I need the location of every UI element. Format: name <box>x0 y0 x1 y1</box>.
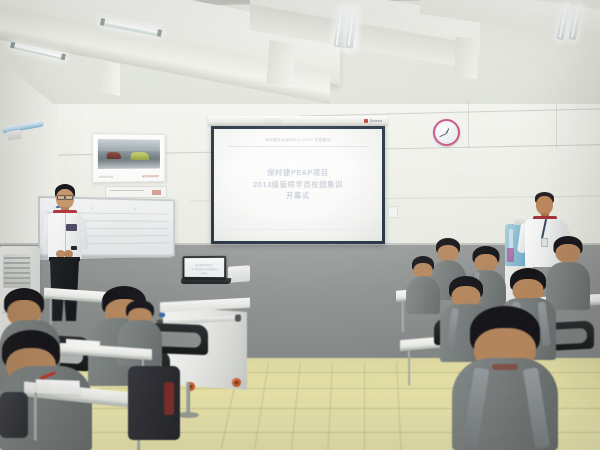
poster-caption-right: MOTORSPORT <box>142 175 159 178</box>
laptop[interactable]: 保时捷PEAP项目 2013级钣喷学员校园集训 开幕式 <box>182 256 230 286</box>
poster-image <box>98 139 160 169</box>
glasses-icon <box>57 195 73 198</box>
classroom-photo: Screen 保时捷亚太培训中心 PEAP 校园集训 保时捷PEAP项目 201… <box>0 0 600 450</box>
slide-content: 保时捷亚太培训中心 PEAP 校园集训 保时捷PEAP项目 2013级钣喷学员校… <box>214 129 382 241</box>
wall-clock-icon <box>433 119 460 146</box>
slide-header-text: 保时捷亚太培训中心 PEAP 校园集训 <box>265 138 331 143</box>
backpack <box>0 392 28 438</box>
student <box>406 256 440 314</box>
air-conditioner-grille <box>3 254 31 288</box>
slide-title-line-1: 保时捷PEAP项目 <box>253 167 343 179</box>
student-foreground-right <box>452 306 558 450</box>
screen-frame: 保时捷亚太培训中心 PEAP 校园集训 保时捷PEAP项目 2013级钣喷学员校… <box>211 126 385 244</box>
caster-wheel <box>232 378 241 387</box>
clock-minute-hand <box>440 133 447 137</box>
projection-screen: Screen 保时捷亚太培训中心 PEAP 校园集训 保时捷PEAP项目 201… <box>208 116 388 246</box>
slide-title-line-3: 开幕式 <box>253 190 343 202</box>
cart-post <box>186 382 190 416</box>
equipment-box <box>228 265 250 283</box>
slide-title-line-2: 2013级钣喷学员校园集训 <box>253 179 343 191</box>
screen-brand-label: Screen <box>370 119 382 123</box>
screen-roller-knob[interactable] <box>264 118 282 125</box>
slide-footer-divider <box>227 229 368 230</box>
backpack <box>128 366 180 440</box>
laptop-lid: 保时捷PEAP项目 2013级钣喷学员校园集训 开幕式 <box>183 256 227 280</box>
whiteboard-mark: 3. <box>134 207 136 211</box>
cart-foot <box>177 412 199 418</box>
laptop-screen: 保时捷PEAP项目 2013级钣喷学员校园集训 开幕式 <box>184 258 224 277</box>
framed-poster: PORSCHE MOTORSPORT <box>92 133 165 183</box>
screen-surface: 保时捷亚太培训中心 PEAP 校园集训 保时捷PEAP项目 2013级钣喷学员校… <box>214 129 382 241</box>
ceiling-pilaster-2 <box>266 40 295 88</box>
floor-grout <box>364 362 365 450</box>
clock-center-pin <box>446 131 448 133</box>
light-switch[interactable] <box>388 206 398 218</box>
ceiling-pilaster-3 <box>454 37 479 80</box>
ceiling-pilaster-1 <box>100 60 120 96</box>
laptop-slide-line-3: 开幕式 <box>184 271 224 275</box>
shirt-pocket-logo <box>66 224 77 231</box>
slide-divider <box>228 146 367 147</box>
wall-sign <box>105 186 167 198</box>
collar-detail <box>492 364 518 370</box>
poster-caption-left: PORSCHE <box>99 176 113 179</box>
wristwatch <box>71 246 77 250</box>
wall-seam-vertical <box>468 100 469 148</box>
wall-seam-vertical <box>556 104 557 148</box>
slide-title-block: 保时捷PEAP项目 2013级钣喷学员校园集训 开幕式 <box>253 167 343 202</box>
water-bottle-label <box>507 248 514 262</box>
screen-brand-logo: Screen <box>346 118 382 124</box>
